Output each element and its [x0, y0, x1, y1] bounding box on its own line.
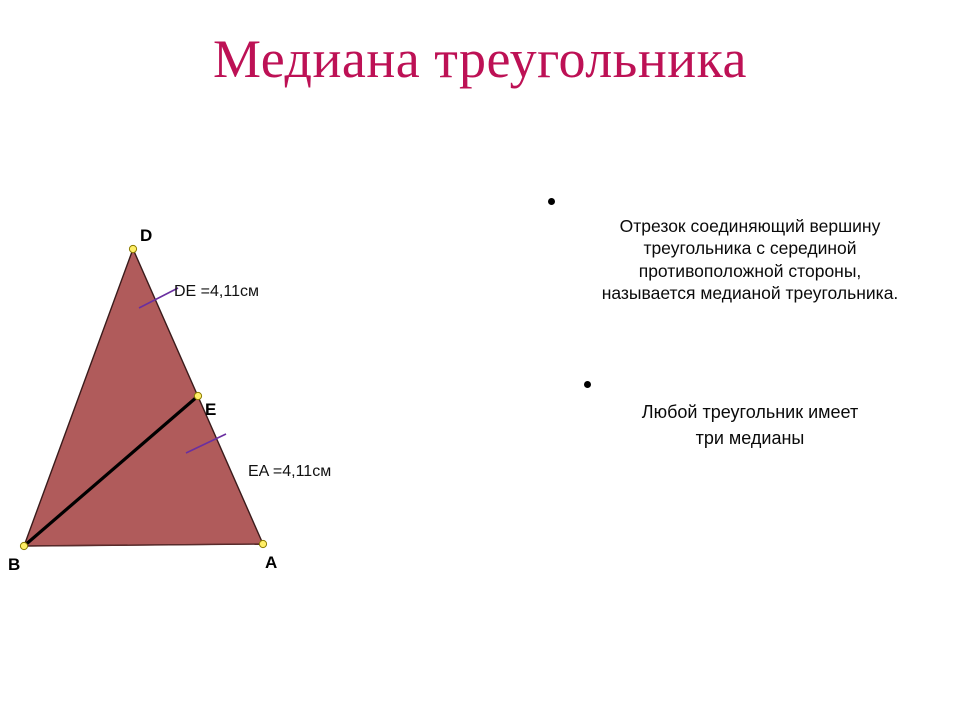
vertex-label-d: D	[140, 226, 152, 245]
vertex-dot-b	[20, 542, 27, 549]
measure-label-ea: EA =4,11см	[248, 463, 331, 480]
vertex-label-e: E	[205, 400, 216, 419]
bullet-line: противоположной стороны,	[548, 260, 952, 283]
bullet-dot-icon	[548, 198, 555, 205]
bullet-line: треугольника с серединой	[548, 237, 952, 260]
bullet-text-lines: Отрезок соединяющий вершину треугольника…	[548, 193, 952, 326]
vertex-dot-a	[259, 540, 266, 547]
bullet-item-count: Любой треугольник имеет три медианы	[548, 373, 952, 477]
bullet-line: три медианы	[548, 425, 952, 451]
bullet-line: Отрезок соединяющий вершину	[548, 215, 952, 238]
content-text-block: Отрезок соединяющий вершину треугольника…	[548, 192, 952, 477]
bullet-line: Любой треугольник имеет	[548, 399, 952, 425]
page-title: Медиана треугольника	[0, 28, 960, 90]
vertex-dot-d	[129, 245, 136, 252]
vertex-label-a: A	[265, 553, 277, 572]
bullet-line: называется медианой треугольника.	[548, 282, 952, 305]
slide-canvas: Медиана треугольника D B A E DE	[0, 0, 960, 720]
vertex-label-b: B	[8, 555, 20, 574]
triangle-svg: D B A E DE =4,11см EA =4,11см	[0, 210, 380, 610]
measure-label-de: DE =4,11см	[174, 283, 259, 300]
bullet-item-definition: Отрезок соединяющий вершину треугольника…	[548, 192, 952, 327]
bullet-text-lines: Любой треугольник имеет три медианы	[548, 376, 952, 474]
vertex-dot-e	[194, 392, 201, 399]
bullet-dot-icon	[584, 381, 591, 388]
triangle-median-diagram: D B A E DE =4,11см EA =4,11см	[0, 210, 380, 610]
